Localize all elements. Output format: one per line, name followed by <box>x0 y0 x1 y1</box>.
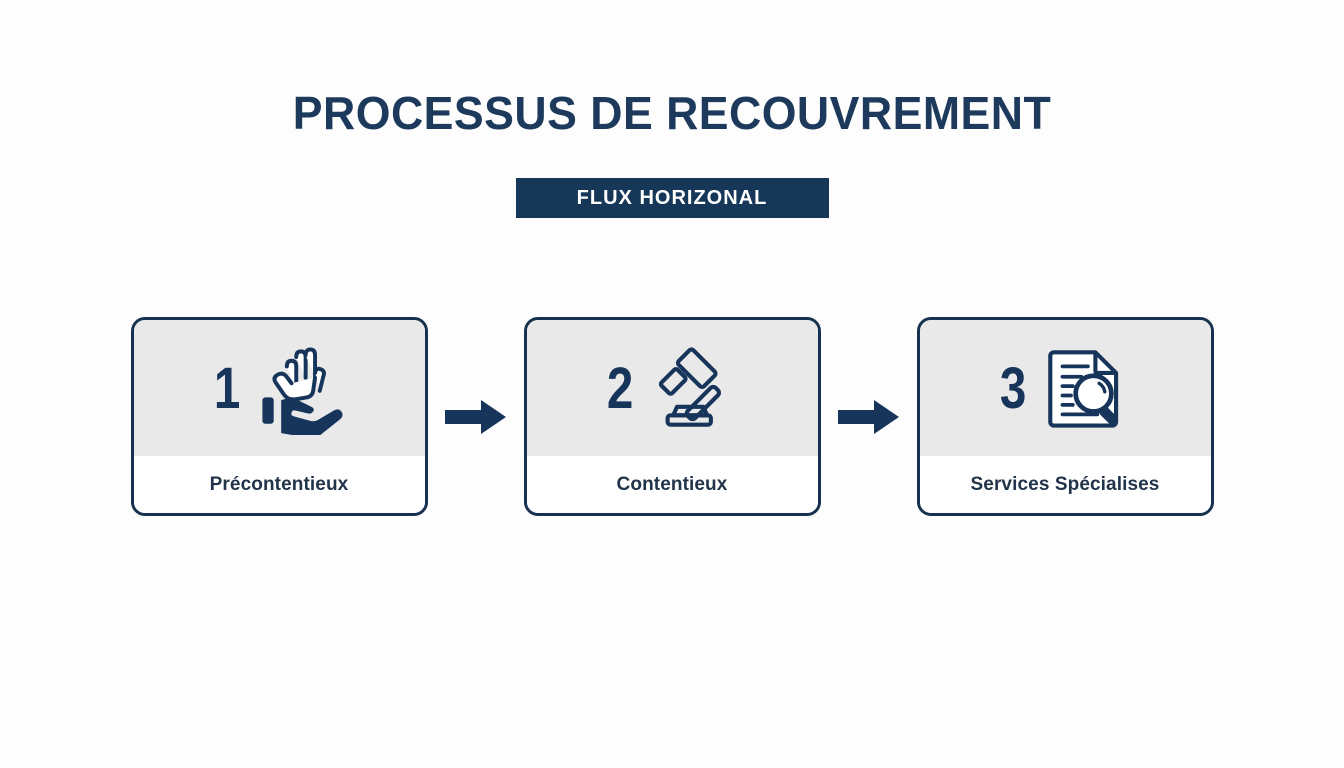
arrow-right-icon <box>428 399 524 435</box>
flow-step-1-footer: Précontentieux <box>134 456 425 513</box>
page-title: PROCESSUS DE RECOUVREMENT <box>20 86 1324 140</box>
arrow-right-icon <box>821 399 917 435</box>
gavel-icon <box>646 341 740 435</box>
flow-step-1-label: Précontentieux <box>210 474 349 496</box>
flow-step-3-header: 3 <box>920 320 1211 456</box>
flow-step-card-1[interactable]: 1 <box>131 317 428 516</box>
flow-step-card-3[interactable]: 3 <box>917 317 1214 516</box>
flow-step-card-2[interactable]: 2 Contentieux <box>524 317 821 516</box>
helping-hand-icon <box>253 341 347 435</box>
process-flow: 1 <box>0 314 1344 519</box>
flow-step-2-footer: Contentieux <box>527 456 818 513</box>
flow-step-3-footer: Services Spécialises <box>920 456 1211 513</box>
flow-step-3-number: 3 <box>1000 360 1026 418</box>
flow-step-2-header: 2 <box>527 320 818 456</box>
document-search-icon <box>1039 341 1133 435</box>
flow-step-1-number: 1 <box>214 360 240 418</box>
flow-step-3-label: Services Spécialises <box>971 474 1160 496</box>
flow-step-2-number: 2 <box>607 360 633 418</box>
flow-step-1-header: 1 <box>134 320 425 456</box>
subtitle-badge-container: FLUX HORIZONAL <box>0 178 1344 218</box>
flow-step-2-label: Contentieux <box>617 474 728 496</box>
subtitle-badge: FLUX HORIZONAL <box>516 178 829 218</box>
